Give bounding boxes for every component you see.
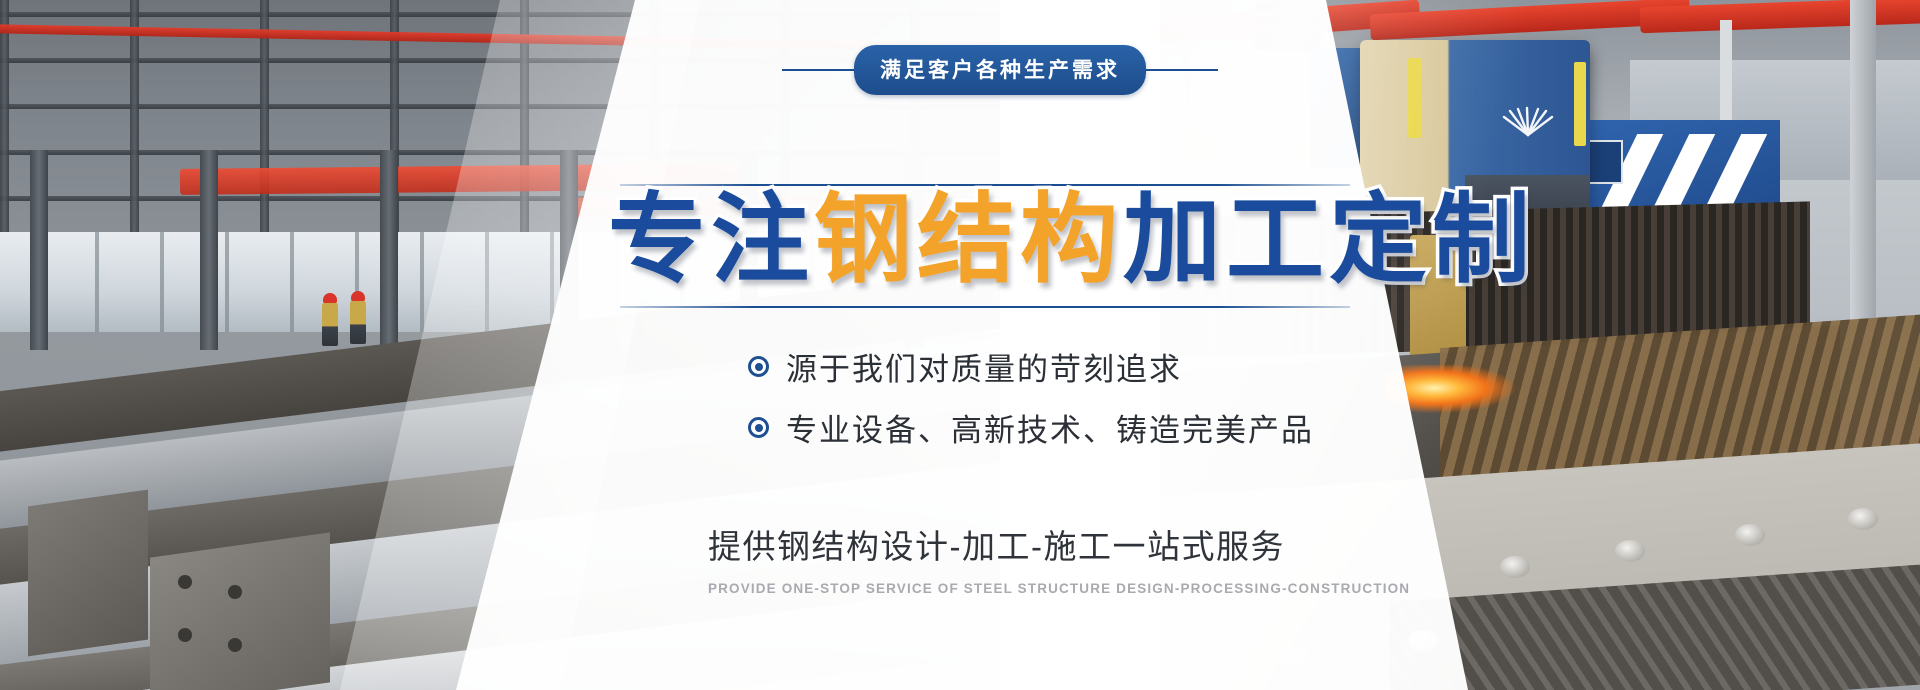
tagline-badge: 满足客户各种生产需求 <box>854 45 1146 95</box>
badge-line-right <box>1146 69 1218 71</box>
feature-bullet-list: 源于我们对质量的苛刻追求 专业设备、高新技术、铸造完美产品 <box>748 344 1314 466</box>
bullet-label: 源于我们对质量的苛刻追求 <box>786 344 1182 389</box>
banner-content: 满足客户各种生产需求 专注 钢结构 加工定制 源于我们对质量的苛刻追求 专业设备… <box>0 0 1920 690</box>
service-tagline: 提供钢结构设计-加工-施工一站式服务 PROVIDE ONE-STOP SERV… <box>708 520 1410 596</box>
list-item: 专业设备、高新技术、铸造完美产品 <box>748 405 1314 450</box>
tagline-english: PROVIDE ONE-STOP SERVICE OF STEEL STRUCT… <box>708 581 1410 596</box>
headline-part-2: 钢结构 <box>814 191 1123 289</box>
hero-banner: 满足客户各种生产需求 专注 钢结构 加工定制 源于我们对质量的苛刻追求 专业设备… <box>0 0 1920 690</box>
bullet-label: 专业设备、高新技术、铸造完美产品 <box>786 405 1314 450</box>
list-item: 源于我们对质量的苛刻追求 <box>748 344 1314 389</box>
tagline-chinese: 提供钢结构设计-加工-施工一站式服务 <box>708 520 1410 568</box>
page-title: 专注 钢结构 加工定制 <box>608 180 1608 300</box>
headline-part-1: 专注 <box>608 191 814 289</box>
ring-dot-icon <box>748 356 769 377</box>
headline-part-3: 加工定制 <box>1123 191 1535 289</box>
badge-line-left <box>782 69 854 71</box>
headline-rule-bottom <box>620 306 1350 308</box>
ring-dot-icon <box>748 417 769 438</box>
tagline-badge-row: 满足客户各种生产需求 <box>760 48 1240 92</box>
